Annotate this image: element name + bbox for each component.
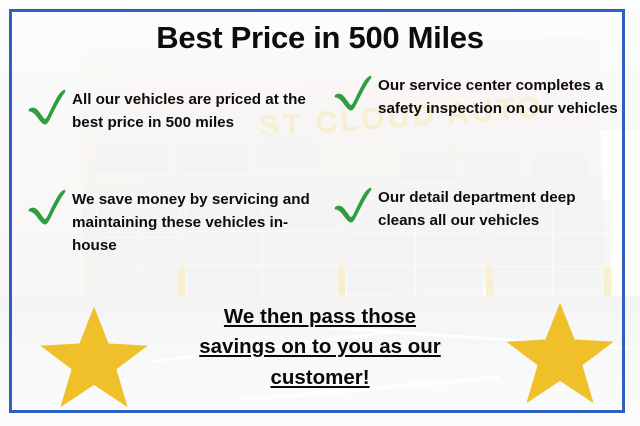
closing-line-1: We then pass those xyxy=(140,302,500,332)
benefit-item-2: Our service center completes a safety in… xyxy=(332,74,632,120)
check-icon xyxy=(332,74,374,112)
closing-line-2: savings on to you as our xyxy=(140,332,500,362)
star-icon xyxy=(38,304,150,412)
closing-statement: We then pass those savings on to you as … xyxy=(140,302,500,393)
benefit-item-4: Our detail department deep cleans all ou… xyxy=(332,186,602,232)
benefit-item-1: All our vehicles are priced at the best … xyxy=(26,88,326,134)
benefit-text-3: We save money by servicing and maintaini… xyxy=(72,188,326,257)
poster-content: Best Price in 500 Miles All our vehicles… xyxy=(0,0,640,426)
benefit-item-3: We save money by servicing and maintaini… xyxy=(26,188,326,257)
check-icon xyxy=(26,188,68,226)
benefit-text-4: Our detail department deep cleans all ou… xyxy=(378,186,602,232)
closing-line-3: customer! xyxy=(140,363,500,393)
benefit-text-1: All our vehicles are priced at the best … xyxy=(72,88,326,134)
page-title: Best Price in 500 Miles xyxy=(0,20,640,56)
poster-canvas: ST CLOUD AUTO gallery Best Price in 500 … xyxy=(0,0,640,426)
check-icon xyxy=(332,186,374,224)
star-icon xyxy=(504,300,616,408)
benefit-text-2: Our service center completes a safety in… xyxy=(378,74,632,120)
check-icon xyxy=(26,88,68,126)
